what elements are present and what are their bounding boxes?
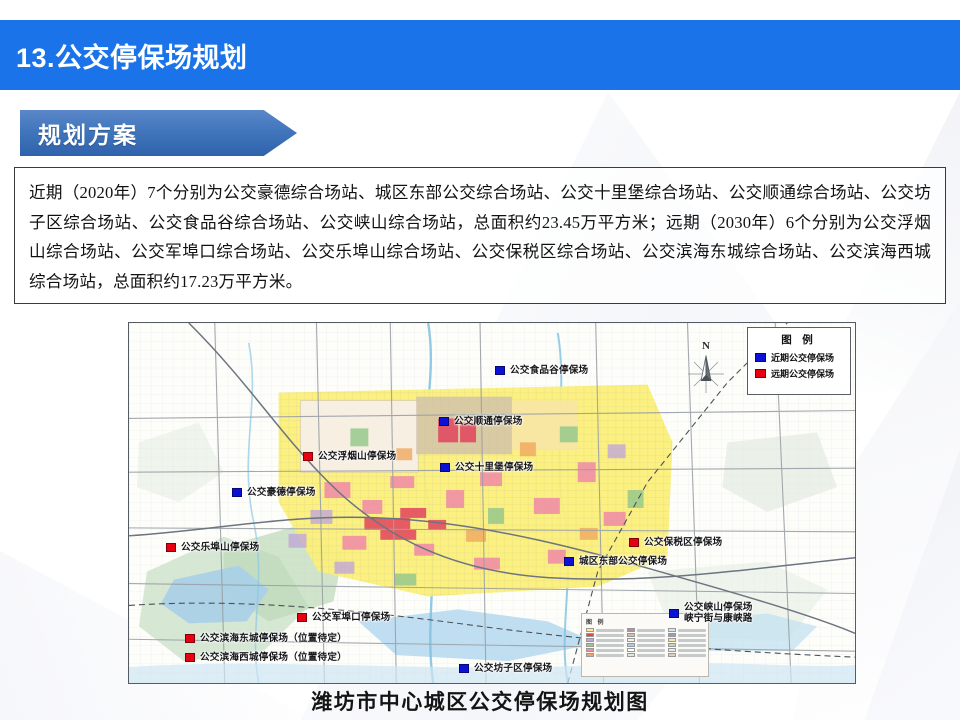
marker-swatch-far-icon — [303, 452, 313, 461]
map-marker-4[interactable]: 公交十里堡停保场 — [440, 462, 533, 473]
body-paragraph: 近期（2020年）7个分别为公交豪德综合场站、城区东部公交综合场站、公交十里堡综… — [29, 178, 931, 296]
body-text-box: 近期（2020年）7个分别为公交豪德综合场站、城区东部公交综合场站、公交十里堡综… — [14, 167, 946, 304]
map-marker-label: 公交军埠口停保场 — [312, 612, 390, 623]
marker-swatch-near-icon — [232, 488, 242, 497]
map-marker-label: 公交坊子区停保场 — [474, 663, 552, 674]
north-arrow-icon: N — [684, 341, 728, 399]
map-legend-label-near: 近期公交停保场 — [771, 351, 834, 364]
landuse-chip — [627, 653, 635, 657]
figure-caption: 潍坊市中心城区公交停保场规划图 — [0, 686, 960, 716]
map-legend-title: 图 例 — [753, 332, 845, 347]
map-legend-panel: 图 例 近期公交停保场 远期公交停保场 — [747, 327, 851, 395]
landuse-text — [637, 634, 665, 637]
map-marker-5[interactable]: 公交豪德停保场 — [232, 487, 316, 498]
landuse-text — [596, 654, 624, 657]
map-marker-1[interactable]: 公交食品谷停保场 — [495, 365, 588, 376]
map-marker-8[interactable]: 城区东部公交停保场 — [564, 556, 667, 567]
landuse-chip — [627, 643, 635, 647]
map-marker-label: 城区东部公交停保场 — [579, 556, 667, 567]
landuse-text — [678, 649, 706, 652]
landuse-text — [678, 634, 706, 637]
map-marker-label: 公交十里堡停保场 — [455, 462, 533, 473]
map-marker-label: 公交浮烟山停保场 — [318, 451, 396, 462]
landuse-text — [678, 644, 706, 647]
header-bar: 13.公交停保场规划 — [0, 20, 960, 90]
map-marker-label: 公交滨海东城停保场（位置待定） — [200, 633, 347, 644]
landuse-chip — [586, 638, 594, 642]
landuse-text — [596, 639, 624, 642]
landuse-chip — [627, 628, 635, 632]
landuse-chip — [586, 653, 594, 657]
legend-swatch-far-icon — [755, 369, 766, 378]
landuse-text — [678, 654, 706, 657]
landuse-text — [678, 629, 706, 632]
landuse-chip — [668, 638, 676, 642]
map-marker-7[interactable]: 公交保税区停保场 — [629, 537, 722, 548]
page-title: 13.公交停保场规划 — [0, 36, 248, 75]
background-wedge-right-lower — [850, 400, 960, 720]
landuse-text — [596, 649, 624, 652]
landuse-legend-column — [627, 628, 665, 657]
marker-swatch-near-icon — [495, 366, 505, 375]
marker-swatch-near-icon — [440, 463, 450, 472]
marker-swatch-far-icon — [629, 538, 639, 547]
map-marker-12[interactable]: 公交滨海西城停保场（位置待定） — [185, 652, 347, 663]
landuse-chip — [668, 643, 676, 647]
map-marker-label: 公交滨海西城停保场（位置待定） — [200, 652, 347, 663]
landuse-text — [596, 634, 624, 637]
landuse-chip — [586, 648, 594, 652]
landuse-legend-column — [668, 628, 706, 657]
map-marker-2[interactable]: 公交顺通停保场 — [439, 416, 523, 427]
landuse-chip — [668, 653, 676, 657]
marker-swatch-near-icon — [564, 557, 574, 566]
map-legend-item-far: 远期公交停保场 — [755, 367, 845, 380]
map-legend-item-near: 近期公交停保场 — [755, 351, 845, 364]
landuse-chip — [627, 648, 635, 652]
map-marker-10[interactable]: 公交峡山停保场峡宁街与康峡路 — [669, 602, 753, 624]
landuse-text — [596, 629, 624, 632]
map-marker-label: 公交食品谷停保场 — [510, 365, 588, 376]
marker-swatch-far-icon — [166, 543, 176, 552]
landuse-text — [596, 644, 624, 647]
map-marker-13[interactable]: 公交坊子区停保场 — [459, 663, 552, 674]
marker-swatch-far-icon — [185, 634, 195, 643]
landuse-legend-columns — [586, 628, 704, 657]
marker-swatch-far-icon — [185, 653, 195, 662]
marker-swatch-near-icon — [439, 417, 449, 426]
landuse-text — [637, 639, 665, 642]
landuse-chip — [668, 628, 676, 632]
map-legend-label-far: 远期公交停保场 — [771, 367, 834, 380]
landuse-chip — [586, 633, 594, 637]
landuse-text — [678, 639, 706, 642]
map-marker-sublabel: 峡宁街与康峡路 — [684, 613, 753, 624]
slide-root: 13.公交停保场规划 规划方案 近期（2020年）7个分别为公交豪德综合场站、城… — [0, 0, 960, 720]
landuse-chip — [668, 648, 676, 652]
north-arrow-label: N — [702, 340, 710, 352]
section-banner: 规划方案 — [20, 110, 297, 156]
map-marker-label: 公交豪德停保场 — [247, 487, 316, 498]
landuse-text — [637, 649, 665, 652]
landuse-text — [637, 644, 665, 647]
map-marker-9[interactable]: 公交军埠口停保场 — [297, 612, 390, 623]
landuse-chip — [627, 638, 635, 642]
marker-swatch-far-icon — [297, 613, 307, 622]
marker-swatch-near-icon — [459, 664, 469, 673]
landuse-chip — [586, 628, 594, 632]
landuse-legend-column — [586, 628, 624, 657]
map-marker-label: 公交乐埠山停保场 — [181, 542, 259, 553]
map-marker-label: 公交保税区停保场 — [644, 537, 722, 548]
landuse-chip — [627, 633, 635, 637]
map-marker-3[interactable]: 公交浮烟山停保场 — [303, 451, 396, 462]
legend-swatch-near-icon — [755, 353, 766, 362]
landuse-text — [637, 654, 665, 657]
map-marker-label: 公交峡山停保场峡宁街与康峡路 — [684, 602, 753, 624]
landuse-text — [637, 629, 665, 632]
map-marker-6[interactable]: 公交乐埠山停保场 — [166, 542, 259, 553]
map-marker-label: 公交顺通停保场 — [454, 416, 523, 427]
landuse-chip — [668, 633, 676, 637]
landuse-chip — [586, 643, 594, 647]
marker-swatch-near-icon — [669, 609, 679, 618]
map-marker-11[interactable]: 公交滨海东城停保场（位置待定） — [185, 633, 347, 644]
section-banner-label: 规划方案 — [20, 116, 138, 150]
map-figure[interactable]: 图 例 — [128, 322, 856, 684]
